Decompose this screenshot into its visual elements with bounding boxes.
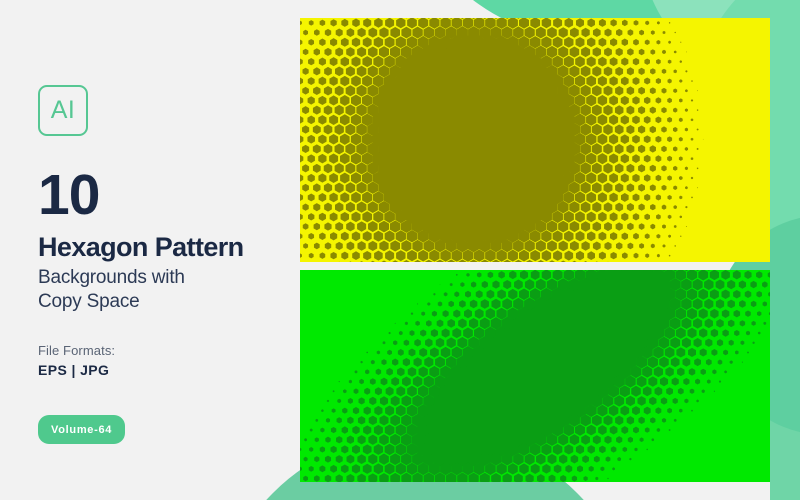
ai-format-badge: AI xyxy=(38,85,88,136)
item-count: 10 xyxy=(38,167,99,224)
volume-badge-label: Volume-64 xyxy=(51,424,112,436)
ai-badge-label: AI xyxy=(51,98,76,123)
page-subtitle: Backgrounds with Copy Space xyxy=(38,266,185,315)
yellow-hexagon-panel xyxy=(300,18,770,262)
green-halftone-graphic xyxy=(300,270,770,482)
page-subtitle-line-2: Copy Space xyxy=(38,290,185,314)
mint-band-right xyxy=(770,0,800,500)
green-hexagon-panel xyxy=(300,270,770,482)
file-formats-value: EPS | JPG xyxy=(38,362,109,378)
yellow-halftone-graphic xyxy=(300,18,770,262)
volume-badge: Volume-64 xyxy=(38,415,125,444)
page-subtitle-line-1: Backgrounds with xyxy=(38,266,185,290)
poster-canvas: AI 10 Hexagon Pattern Backgrounds with C… xyxy=(0,0,800,500)
file-formats-label: File Formats: xyxy=(38,343,115,358)
info-column: AI 10 Hexagon Pattern Backgrounds with C… xyxy=(38,0,288,500)
page-title: Hexagon Pattern xyxy=(38,234,244,261)
